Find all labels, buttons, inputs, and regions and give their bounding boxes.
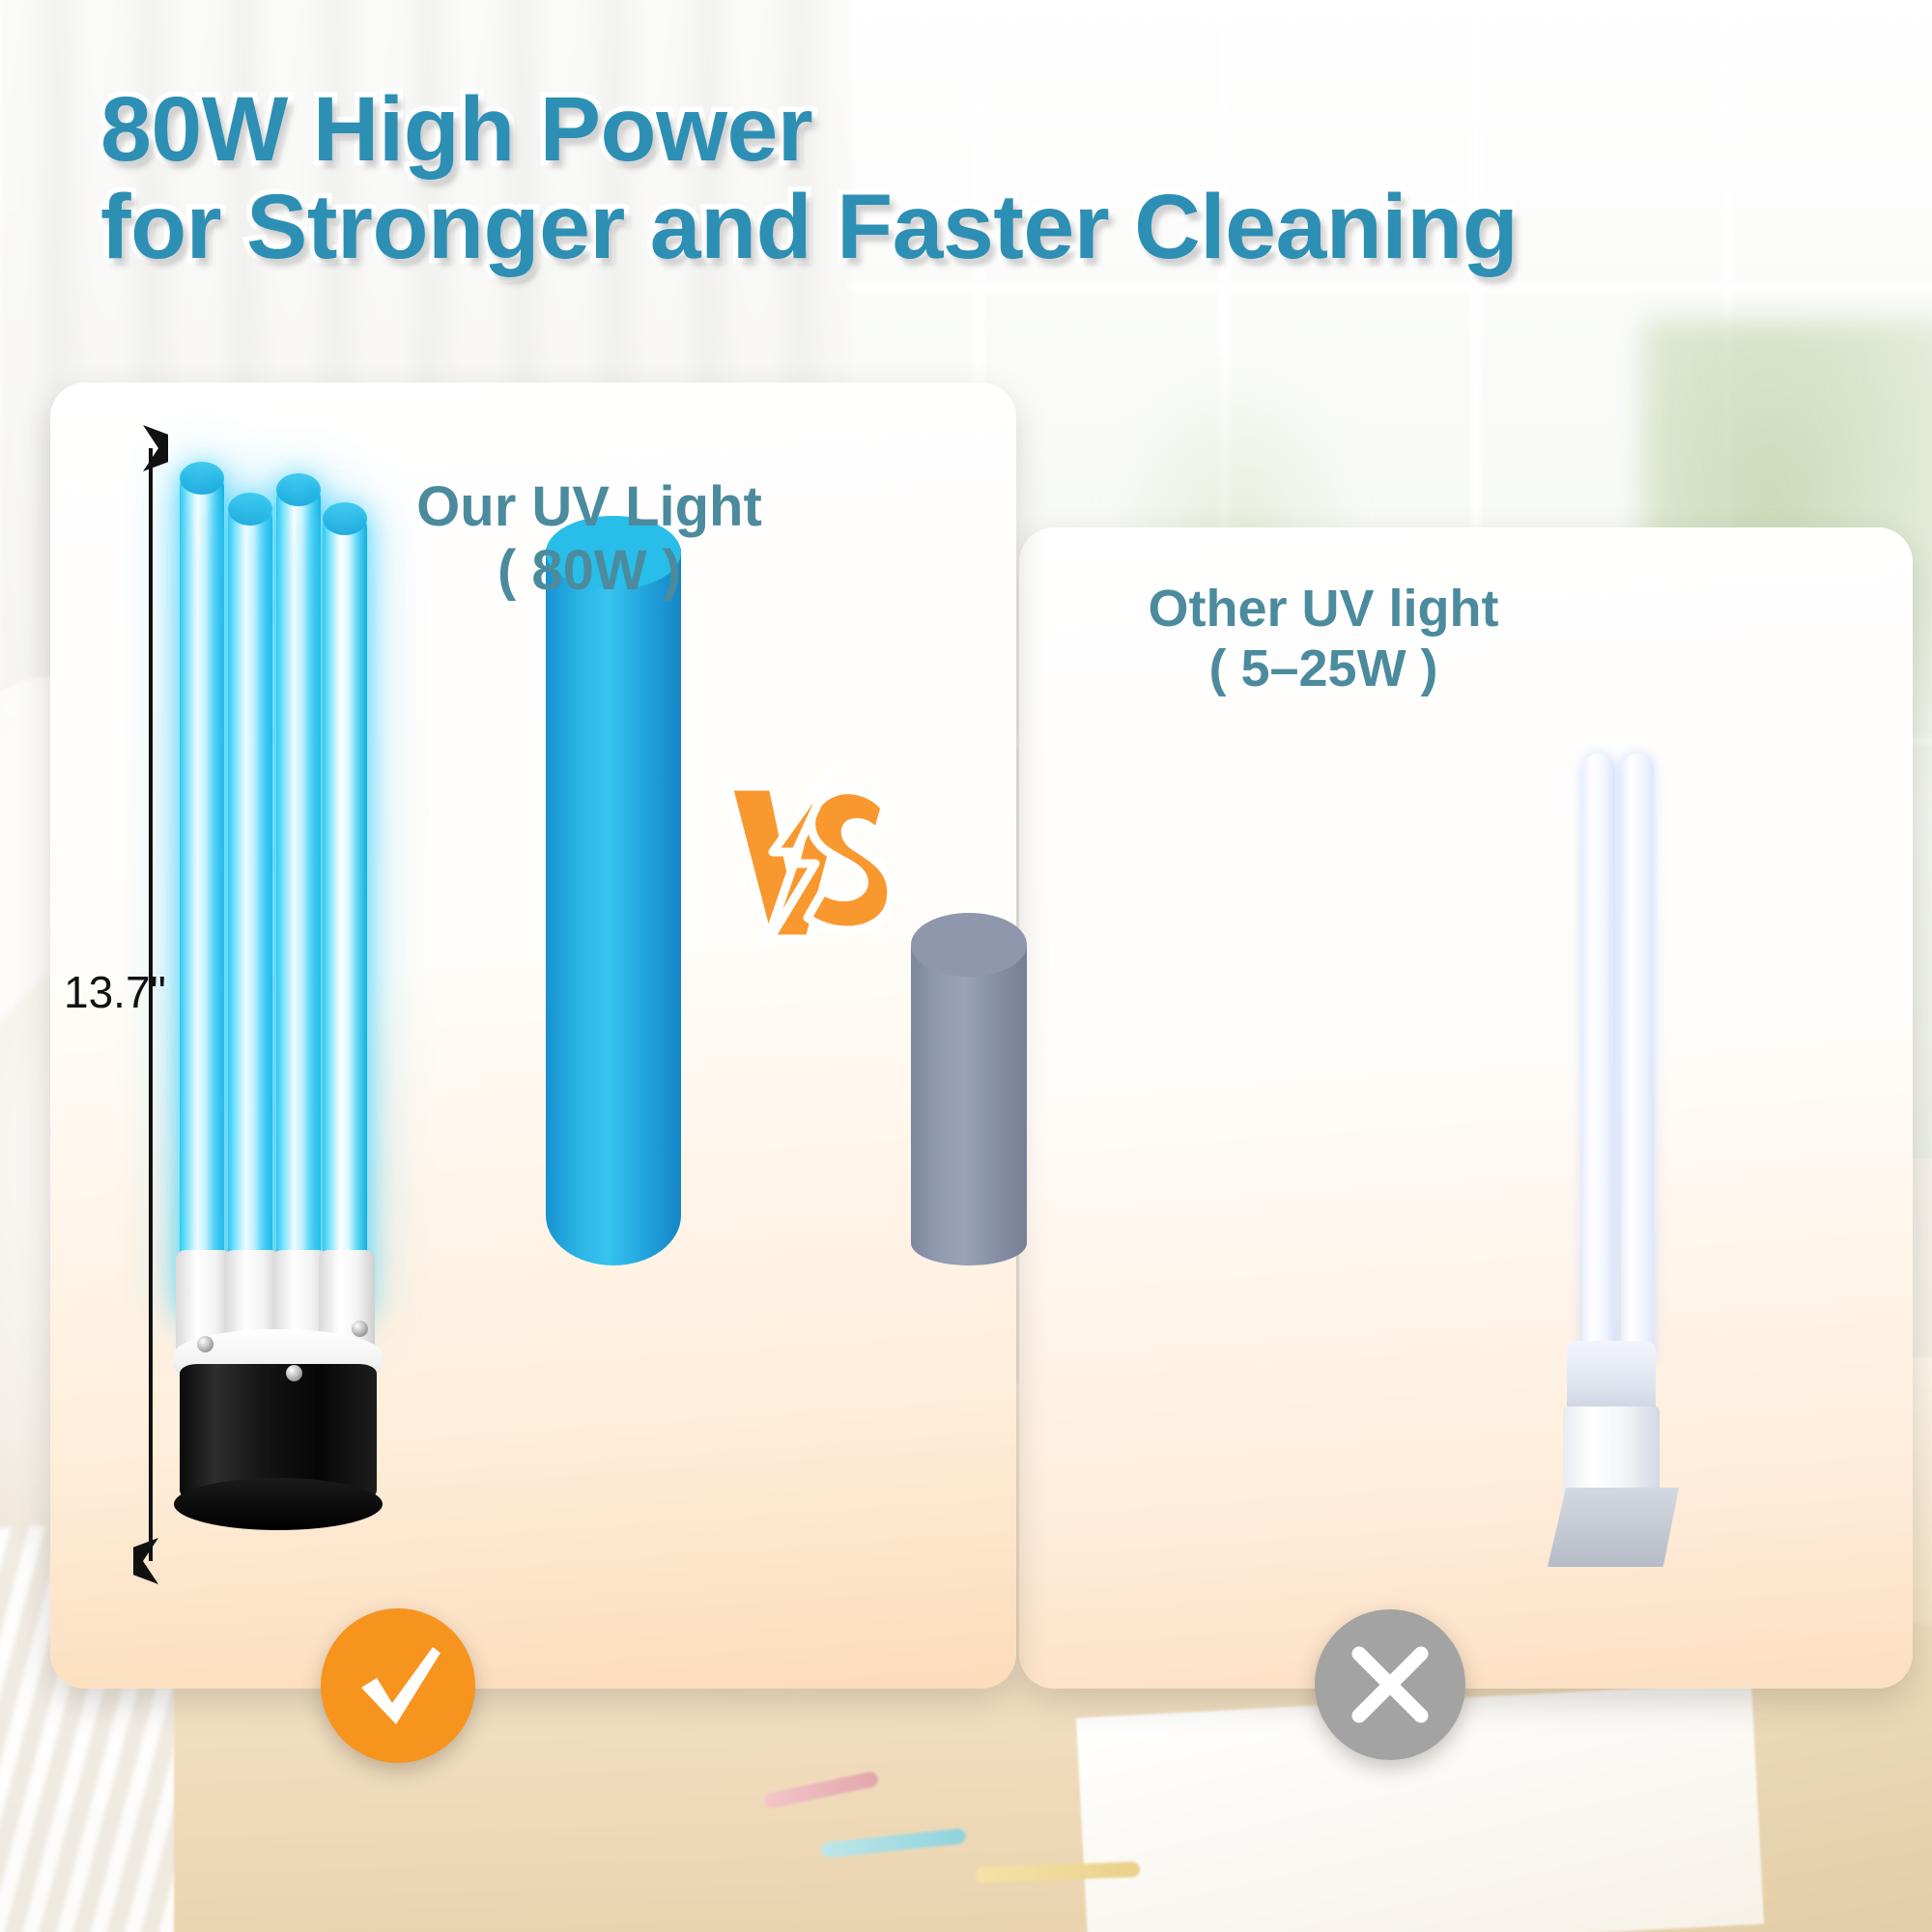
label-our-uv-light-wattage: ( 80W ): [338, 539, 840, 603]
label-other-uv-light-wattage: ( 5–25W ): [1053, 639, 1594, 699]
cross-icon: [1344, 1638, 1436, 1731]
competitor-lamp-neck: [1567, 1341, 1656, 1416]
bar-body: [546, 549, 681, 1265]
base-screw: [197, 1336, 213, 1352]
title-line-1: 80W High Power: [100, 81, 1932, 179]
versus-badge: [723, 763, 896, 947]
height-dimension-label: 13.7": [64, 966, 166, 1018]
title-line-2: for Stronger and Faster Cleaning: [100, 179, 1932, 276]
lamp-base-rim: [174, 1478, 383, 1530]
verdict-badge-negative: [1315, 1609, 1465, 1760]
competitor-uv-tube: [1621, 753, 1654, 1362]
label-other-uv-light: Other UV light ( 5–25W ): [1053, 580, 1594, 698]
uv-tube: [323, 506, 367, 1316]
bar-other-uv-light: [911, 913, 1027, 1265]
label-other-uv-light-heading: Other UV light: [1149, 580, 1499, 638]
label-our-uv-light-heading: Our UV Light: [416, 475, 762, 538]
label-our-uv-light: Our UV Light ( 80W ): [338, 475, 840, 603]
uv-tube-cap: [228, 493, 272, 526]
competitor-lamp-foot: [1548, 1488, 1679, 1567]
bar-top-ellipse: [911, 913, 1027, 977]
uv-tube: [228, 497, 272, 1316]
uv-tube-cap: [276, 473, 321, 506]
window-mullion: [734, 280, 1932, 294]
bar-body: [911, 946, 1027, 1265]
checkmark-icon: [348, 1635, 448, 1736]
uv-tube-cap: [180, 462, 224, 495]
bar-our-uv-light: [546, 516, 681, 1265]
base-screw: [352, 1321, 368, 1337]
product-image-other-uv-lamp: [1546, 753, 1690, 1565]
verdict-badge-positive: [321, 1608, 475, 1763]
page-title: 80W High Power for Stronger and Faster C…: [100, 81, 1932, 275]
uv-tube: [276, 477, 321, 1316]
base-screw: [286, 1365, 302, 1381]
comparison-card-other: [1019, 527, 1913, 1689]
competitor-uv-tube: [1582, 753, 1615, 1362]
uv-tube: [180, 466, 224, 1316]
